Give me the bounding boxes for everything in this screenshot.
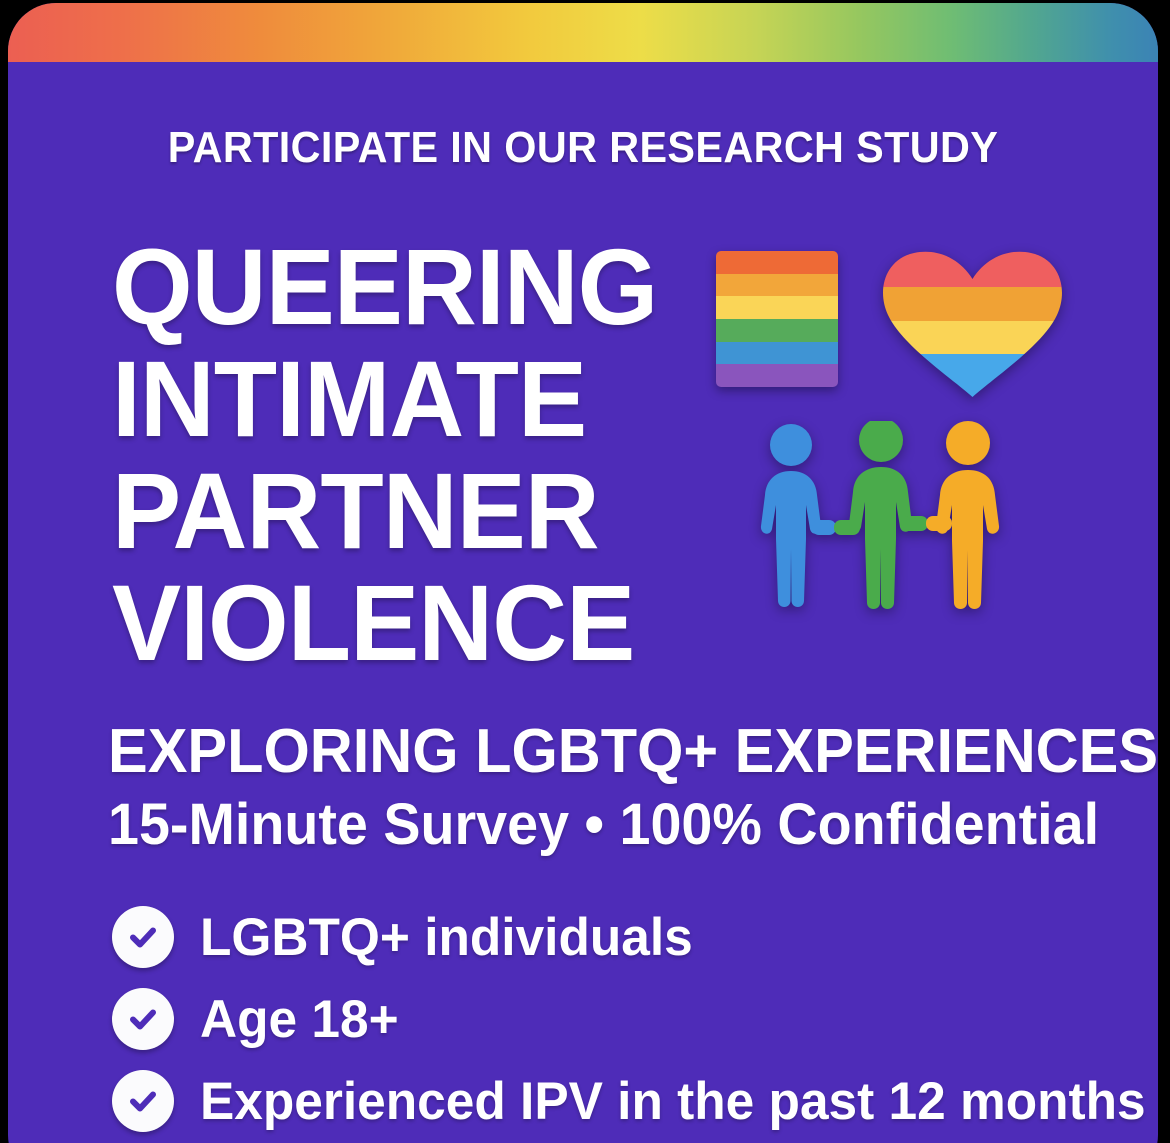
rainbow-pride-flag-icon [716,251,838,387]
list-item: Experienced IPV in the past 12 months [112,1060,1112,1142]
rainbow-gradient-bar [8,3,1158,62]
eligibility-checklist: LGBTQ+ individuals Age 18+ Experienced I… [112,896,1112,1142]
flyer-card: PARTICIPATE IN OUR RESEARCH STUDY QUEERI… [8,3,1158,1143]
check-circle-icon [112,988,174,1050]
person-green [834,421,928,609]
eligibility-label: Age 18+ [200,993,399,1046]
three-people-holding-hands-icon [750,421,1012,611]
headline-line-4: VIOLENCE [112,567,688,679]
page-title: QUEERING INTIMATE PARTNER VIOLENCE [112,231,712,679]
check-circle-icon [112,906,174,968]
list-item: Age 18+ [112,978,1112,1060]
subtitle-secondary: 15-Minute Survey • 100% Confidential [108,796,1099,854]
subtitle-primary: EXPLORING LGBTQ+ EXPERIENCES [108,721,1158,783]
eligibility-label: Experienced IPV in the past 12 months [200,1075,1146,1128]
eligibility-label: LGBTQ+ individuals [200,911,693,964]
artwork-column [708,243,1078,633]
headline-line-3: PARTNER [112,455,688,567]
headline-line-2: INTIMATE [112,343,688,455]
person-orange [926,421,999,609]
check-circle-icon [112,1070,174,1132]
list-item: LGBTQ+ individuals [112,896,1112,978]
eyebrow-text: PARTICIPATE IN OUR RESEARCH STUDY [43,126,1124,170]
rainbow-heart-icon [880,249,1065,399]
headline-line-1: QUEERING [112,231,688,343]
person-blue [761,424,821,607]
